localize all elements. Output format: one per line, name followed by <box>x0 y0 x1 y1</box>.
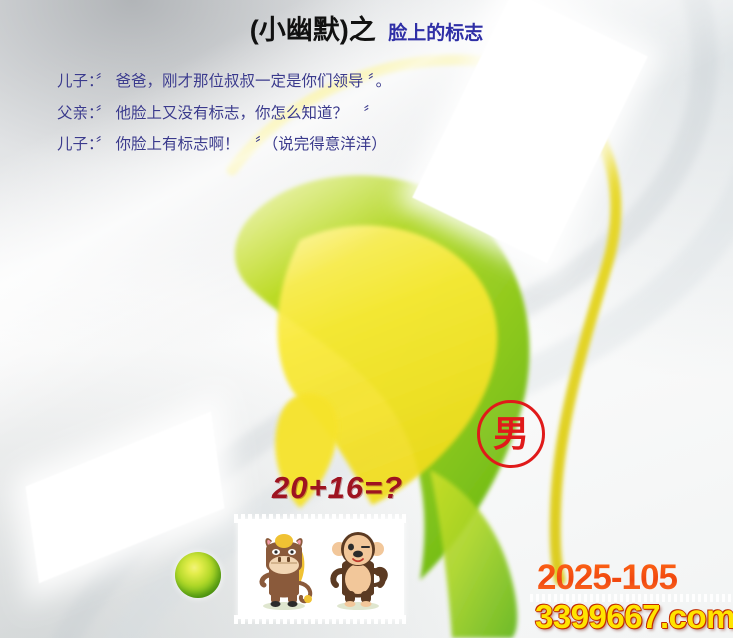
title-subtitle-text: 脸上的标志 <box>388 23 483 44</box>
joke-line: 儿子：〞 爸爸，刚才那位叔叔一定是你们领导 〞。 <box>57 74 677 90</box>
male-stamp-label: 男 <box>493 416 529 452</box>
joke-text-block: 儿子：〞 爸爸，刚才那位叔叔一定是你们领导 〞。 父亲：〞 他脸上又没有标志，你… <box>57 74 677 169</box>
issue-number-text: 2025-105 <box>537 558 677 598</box>
green-orb-icon <box>175 552 221 598</box>
male-stamp-badge: 男 <box>477 400 545 468</box>
monkey-cartoon-icon <box>325 527 391 611</box>
joke-line: 儿子：〞 你脸上有标志啊！ 〞（说完得意洋洋） <box>57 137 677 153</box>
horse-cartoon-icon <box>251 527 317 611</box>
site-url-text: 3399667.com <box>535 598 733 634</box>
poster-title: (小幽默)之 脸上的标志 <box>0 8 733 47</box>
poster-canvas: (小幽默)之 脸上的标志 儿子：〞 爸爸，刚才那位叔叔一定是你们领导 〞。 父亲… <box>0 0 733 638</box>
title-main-text: (小幽默)之 <box>250 15 376 45</box>
site-url-band: 3399667.com <box>530 594 733 634</box>
joke-line: 父亲：〞 他脸上又没有标志，你怎么知道？ 〞 <box>57 106 677 122</box>
riddle-text: 20+16=? <box>272 470 403 506</box>
animal-photo-panel <box>238 519 404 619</box>
